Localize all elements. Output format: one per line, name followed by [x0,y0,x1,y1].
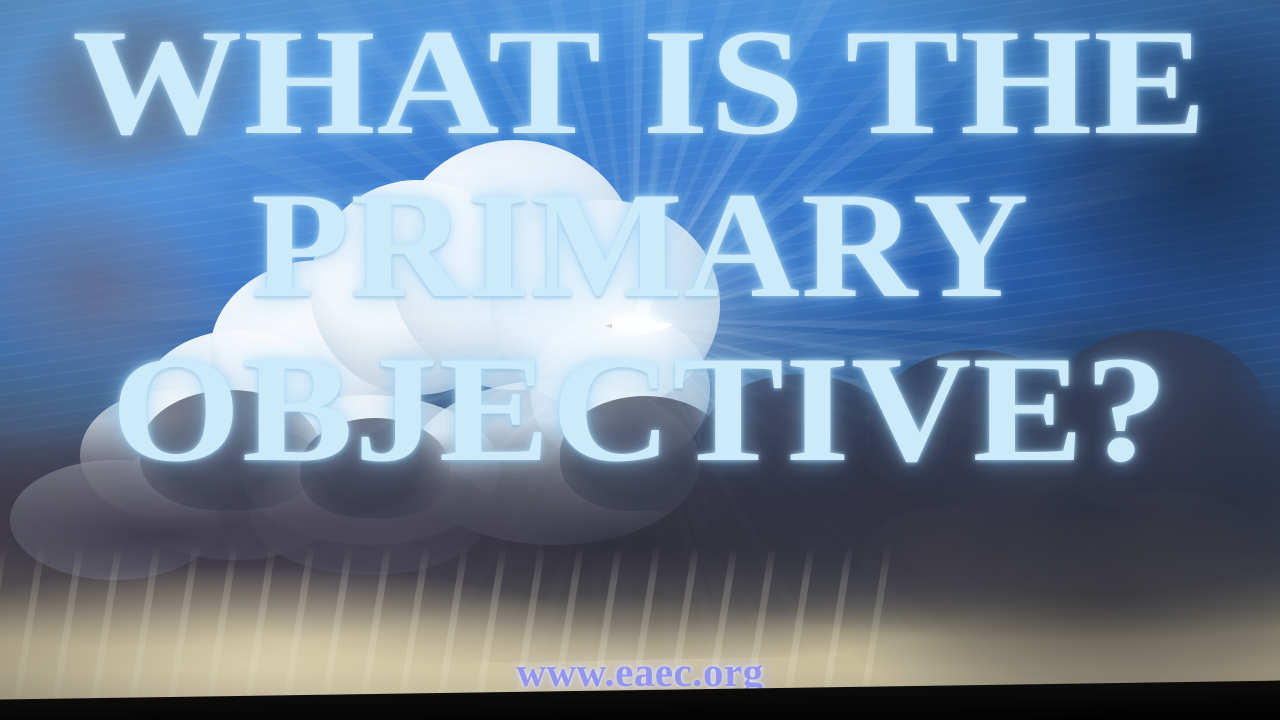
slide-canvas: WHAT IS THE PRIMARY OBJECTIVE? www.eaec.… [0,0,1280,720]
screen-glare [0,0,1280,720]
